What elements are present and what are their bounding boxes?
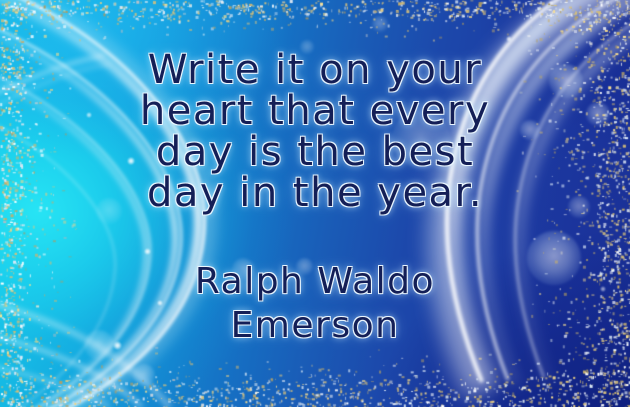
attribution-line-1: Ralph Waldo bbox=[0, 260, 630, 304]
quote-graphic: Write it on your heart that every day is… bbox=[0, 0, 630, 407]
quote-text: Write it on your heart that every day is… bbox=[0, 50, 630, 214]
attribution: Ralph Waldo Emerson bbox=[0, 260, 630, 348]
quote-line-3: day is the best bbox=[0, 132, 630, 173]
quote-line-2: heart that every bbox=[0, 91, 630, 132]
quote-line-1: Write it on your bbox=[0, 50, 630, 91]
attribution-line-2: Emerson bbox=[0, 304, 630, 348]
quote-line-4: day in the year. bbox=[0, 173, 630, 214]
